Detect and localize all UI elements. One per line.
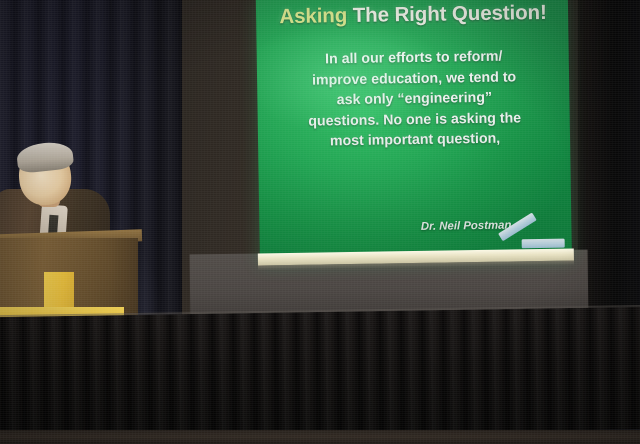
stage-floor xyxy=(0,430,640,444)
slide-body-text: In all our efforts to reform/ improve ed… xyxy=(273,46,557,153)
projected-slide: Asking The Right Question! In all our ef… xyxy=(256,0,572,280)
slide-title-rest: The Right Question! xyxy=(347,1,547,27)
presentation-photo: Asking The Right Question! In all our ef… xyxy=(0,0,640,444)
slide-title-accent: Asking xyxy=(279,4,347,28)
stage-skirt-curtain xyxy=(0,307,640,440)
chalk-piece-flat-icon xyxy=(522,239,565,249)
slide-title: Asking The Right Question! xyxy=(264,2,562,28)
